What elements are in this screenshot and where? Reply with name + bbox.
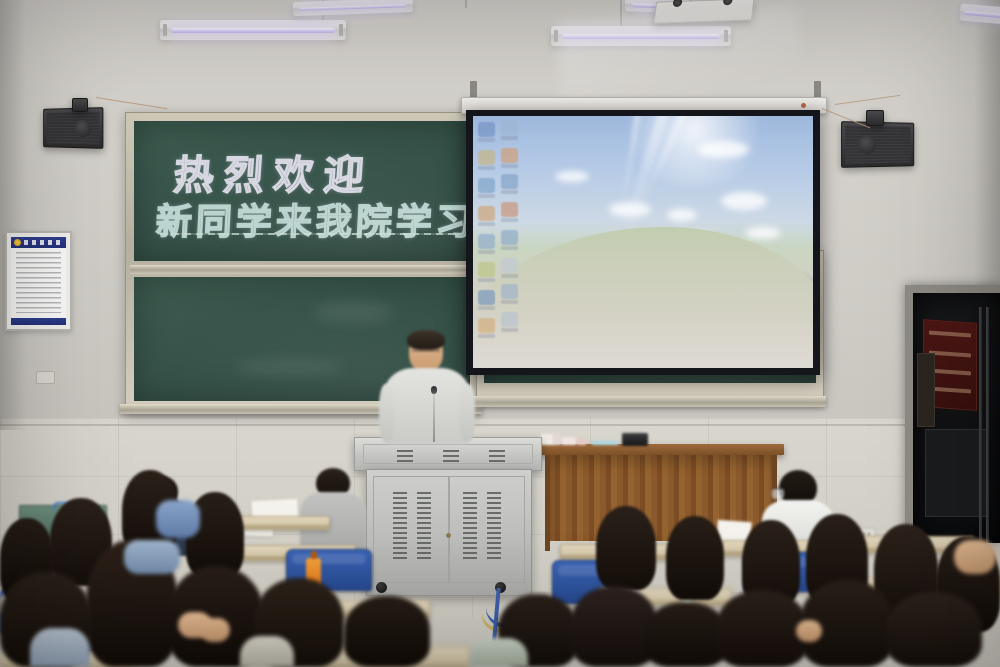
chalk-box-2[interactable] (553, 433, 561, 445)
blackboard-underline (160, 233, 460, 235)
presenter-arm-left (379, 384, 395, 442)
desktop-icon-11[interactable] (501, 174, 518, 194)
presenter-shirt (384, 368, 470, 444)
dark-room-crate (917, 353, 935, 427)
speaker-bracket-left (72, 98, 88, 112)
audience-hand-far-right (796, 620, 822, 642)
left-corner-shadow (0, 0, 26, 430)
desktop-icon-13[interactable] (501, 230, 518, 250)
wall-seam (0, 424, 1000, 426)
blackboard-welcome-line: 热烈欢迎 (172, 143, 376, 201)
blue-folder[interactable] (592, 441, 618, 445)
light-hanger-2 (465, 0, 467, 8)
chalk-box-3[interactable] (562, 437, 576, 445)
desktop-icon-9[interactable] (501, 120, 518, 140)
notice-text-block (16, 252, 61, 313)
desktop-icon-6[interactable] (478, 262, 495, 282)
audience-front-head-11 (886, 592, 982, 667)
podium-door-knob[interactable] (446, 533, 451, 538)
chalk-tray-right (470, 396, 826, 407)
desktop-icon-3[interactable] (478, 178, 495, 198)
blackboard-upper-panel: 热烈欢迎 新同学来我院学习深造 (134, 121, 470, 261)
classroom-photo: 热烈欢迎 新同学来我院学习深造 (0, 0, 1000, 667)
desktop-icon-7[interactable] (478, 290, 495, 310)
podium-cabinet[interactable] (366, 469, 532, 596)
desktop-icon-8[interactable] (478, 318, 495, 338)
podium-caster-left (376, 582, 387, 593)
podium-microphone[interactable] (433, 392, 435, 442)
wall-speaker-right (841, 121, 914, 168)
wall-switch[interactable] (36, 371, 55, 384)
desktop-icon-15[interactable] (501, 284, 518, 304)
teacher-desk-leg-left (545, 455, 550, 551)
dark-room-pole-1 (979, 307, 982, 543)
chalk-box-4[interactable] (577, 439, 586, 445)
audience-hand-right (200, 618, 230, 642)
dark-room-rack (925, 429, 987, 517)
audience-arm-far-right (954, 540, 996, 574)
notice-header (11, 237, 66, 248)
speaker-bracket-right (866, 110, 884, 126)
wall-notice-board (5, 231, 72, 331)
presenter-arm-right (459, 384, 475, 442)
student-glasses (772, 488, 784, 499)
audience-shoulder-4 (156, 500, 200, 538)
audience-shoulder-2 (240, 636, 294, 667)
ceiling-projector (653, 0, 754, 24)
desktop-icon-12[interactable] (501, 202, 518, 222)
emblem-icon (14, 239, 21, 246)
student-desk-r2-a (238, 516, 330, 530)
wall-speaker-left (43, 107, 103, 149)
blackboard-divider (130, 265, 474, 274)
projection-screen-surface (473, 116, 813, 368)
desktop-icon-2[interactable] (478, 150, 495, 170)
light-hanger-3 (620, 0, 622, 28)
audience-shoulder-3 (470, 638, 528, 667)
ceiling-tube-light-3 (551, 26, 731, 46)
teacher-desk-top (538, 444, 784, 455)
desktop-icon-14[interactable] (501, 258, 518, 278)
ceiling-tube-light-1 (160, 20, 346, 40)
presenter-glasses (412, 350, 440, 355)
desktop-icon-10[interactable] (501, 148, 518, 168)
desktop-icon-1[interactable] (478, 122, 495, 142)
audience-shoulder-1 (30, 628, 90, 667)
black-camera-bag[interactable] (622, 433, 648, 446)
audience-front-head-9 (716, 590, 808, 667)
audience-head-b1 (596, 506, 656, 590)
presenter-hair (407, 330, 445, 350)
dark-room-pole-2 (986, 307, 989, 543)
desktop-icon-5[interactable] (478, 234, 495, 254)
audience-front-head-5 (344, 596, 430, 667)
desktop-icon-4[interactable] (478, 206, 495, 226)
desktop-icon-16[interactable] (501, 312, 518, 332)
audience-head-b2 (666, 516, 724, 600)
audience-shoulder-5 (124, 540, 180, 574)
open-doorway[interactable] (913, 293, 1000, 543)
